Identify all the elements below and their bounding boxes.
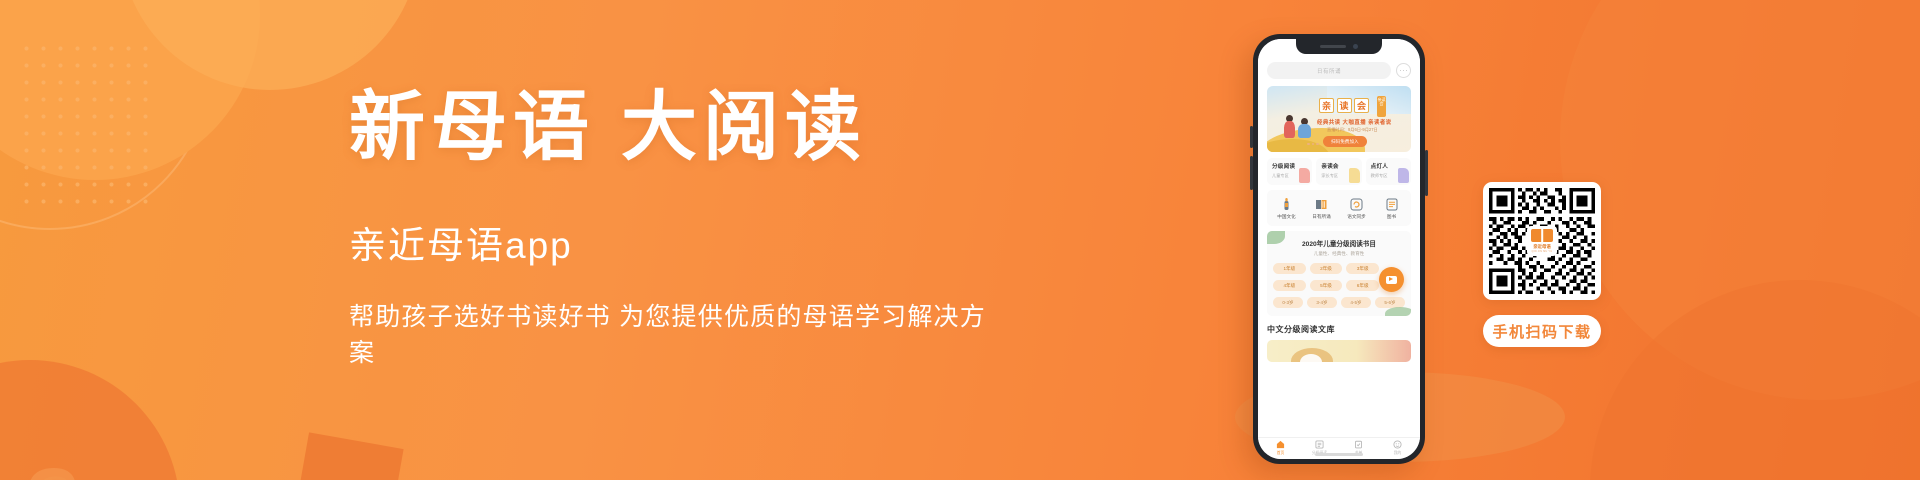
play-video-button[interactable] (1379, 267, 1404, 292)
grade-chip[interactable]: 2年级 (1310, 263, 1343, 274)
carousel-dots[interactable] (1307, 143, 1319, 146)
quick-link-label: 中国文化 (1269, 214, 1304, 220)
headline-part-2: 大阅读 (621, 86, 867, 170)
bookmark-icon (1299, 168, 1310, 183)
phone-screen: 日有所诵 亲 读 会 (1258, 39, 1420, 459)
decor-blob-bottom-right (1590, 280, 1920, 480)
grade-chip[interactable]: 4年级 (1273, 280, 1306, 291)
more-options-icon[interactable] (1396, 63, 1411, 78)
quick-link-label: 日有所诵 (1304, 214, 1339, 220)
hero-title-char: 会 (1354, 98, 1369, 113)
tab-label: 首页 (1261, 451, 1300, 456)
qr-code-image: 亲近母语 QIN JIN MU YU (1489, 188, 1595, 294)
book-logo-icon (1531, 229, 1553, 242)
search-input[interactable]: 日有所诵 (1267, 62, 1391, 79)
search-row: 日有所诵 (1267, 62, 1411, 79)
search-placeholder: 日有所诵 (1317, 67, 1341, 75)
tab-home[interactable]: 首页 (1261, 439, 1300, 456)
dot (1312, 143, 1315, 146)
books-icon (1374, 197, 1409, 211)
hero-title-char: 亲 (1319, 98, 1334, 113)
quick-link-sync[interactable]: 语文同步 (1339, 197, 1374, 220)
home-icon (1261, 439, 1300, 450)
library-section-title: 中文分级阅读文库 (1267, 324, 1411, 335)
app-content: 日有所诵 亲 读 会 (1258, 39, 1420, 437)
grade-chip[interactable]: 1年级 (1273, 263, 1306, 274)
decor-leaf-2-icon (1385, 307, 1411, 316)
kid-figure (1284, 121, 1295, 138)
culture-icon (1269, 197, 1304, 211)
tab-profile[interactable]: 我的 (1378, 439, 1417, 456)
speaker-grille (1320, 45, 1346, 48)
hero-banner[interactable]: 亲 读 会 亲读会 经典共读 大咖直播 亲读者说 直播时间：9月6日-9月27日… (1267, 86, 1411, 152)
grade-chip[interactable]: 6年级 (1346, 280, 1379, 291)
quick-link-books[interactable]: 图书 (1374, 197, 1409, 220)
age-chip[interactable]: 0-3岁 (1273, 297, 1303, 308)
category-card-parent-club[interactable]: 亲读会 家长专区 (1316, 158, 1361, 185)
home-indicator (1315, 453, 1363, 456)
age-chip-row: 0-3岁 3-4岁 4-5岁 5-6岁 (1273, 297, 1405, 308)
dot (1406, 70, 1408, 72)
qr-center-logo: 亲近母语 QIN JIN MU YU (1527, 226, 1557, 256)
book-list-section: 2020年儿童分级阅读书目 儿童性、经典性、教育性 1年级 2年级 3年级 4年… (1267, 231, 1411, 316)
quick-links-row: 中国文化 日有所诵 (1267, 190, 1411, 226)
hero-join-button[interactable]: 扫码免费加入 (1323, 136, 1367, 147)
dot (1403, 70, 1405, 72)
quick-link-culture[interactable]: 中国文化 (1269, 197, 1304, 220)
hero-title-char: 读 (1337, 98, 1352, 113)
scan-download-label: 手机扫码下载 (1492, 321, 1591, 342)
book-section-title: 2020年儿童分级阅读书目 (1273, 238, 1405, 248)
kid-figure-2 (1298, 124, 1311, 138)
qr-download-block: 亲近母语 QIN JIN MU YU 手机扫码下载 (1483, 182, 1601, 347)
phone-power-button (1425, 150, 1428, 196)
category-card-graded-reading[interactable]: 分级阅读 儿童专区 (1267, 158, 1312, 185)
decor-cloud-2-icon (160, 464, 256, 480)
qr-card[interactable]: 亲近母语 QIN JIN MU YU (1483, 182, 1601, 300)
decor-blob-right (1560, 0, 1920, 400)
phone-mockup: 日有所诵 亲 读 会 (1253, 34, 1425, 464)
phone-notch (1296, 39, 1382, 54)
checklist-icon (1339, 439, 1378, 450)
library-card[interactable] (1267, 340, 1411, 362)
age-chip[interactable]: 4-5岁 (1341, 297, 1371, 308)
logo-name-en: QIN JIN MU YU (1532, 250, 1553, 253)
hero-title: 亲 读 会 (1319, 98, 1369, 113)
book-section-subtitle: 儿童性、经典性、教育性 (1273, 251, 1405, 257)
scan-download-button[interactable]: 手机扫码下载 (1483, 315, 1601, 347)
decor-dot-grid (18, 40, 158, 210)
decor-cube (292, 432, 403, 480)
hero-date: 直播时间：9月6日-9月27日 (1327, 127, 1378, 133)
app-name-subtitle: 亲近母语app (349, 215, 1009, 269)
list-icon (1300, 439, 1339, 450)
sync-icon (1339, 197, 1374, 211)
video-icon (1386, 276, 1397, 284)
quick-link-label: 语文同步 (1339, 214, 1374, 220)
headline-part-1: 新母语 (349, 86, 595, 170)
age-chip[interactable]: 3-4岁 (1307, 297, 1337, 308)
quick-link-daily-recite[interactable]: 日有所诵 (1304, 197, 1339, 220)
dot (1316, 143, 1319, 146)
category-cards: 分级阅读 儿童专区 亲读会 家长专区 点灯人 教师专区 (1267, 158, 1411, 185)
grade-chip[interactable]: 5年级 (1310, 280, 1343, 291)
tab-label: 我的 (1378, 451, 1417, 456)
dot (1400, 70, 1402, 72)
front-camera-icon (1353, 44, 1358, 49)
hero-badge: 亲读会 (1377, 96, 1386, 117)
page-title: 新母语大阅读 (349, 86, 1009, 171)
book-open-icon (1304, 197, 1339, 211)
banner-tagline: 帮助孩子选好书读好书 为您提供优质的母语学习解决方案 (349, 297, 1009, 369)
grade-chip[interactable]: 3年级 (1346, 263, 1379, 274)
decor-cloud-icon (20, 444, 130, 480)
note-icon (1349, 168, 1360, 183)
category-card-teacher[interactable]: 点灯人 教师专区 (1366, 158, 1411, 185)
user-icon (1378, 439, 1417, 450)
promo-banner: 新母语大阅读 亲近母语app 帮助孩子选好书读好书 为您提供优质的母语学习解决方… (0, 0, 1920, 480)
quick-link-label: 图书 (1374, 214, 1409, 220)
person-icon (1398, 168, 1409, 183)
hero-subtitle: 经典共读 大咖直播 亲读者说 (1317, 118, 1392, 126)
banner-copy: 新母语大阅读 亲近母语app 帮助孩子选好书读好书 为您提供优质的母语学习解决方… (349, 86, 1009, 369)
dot (1307, 143, 1310, 146)
